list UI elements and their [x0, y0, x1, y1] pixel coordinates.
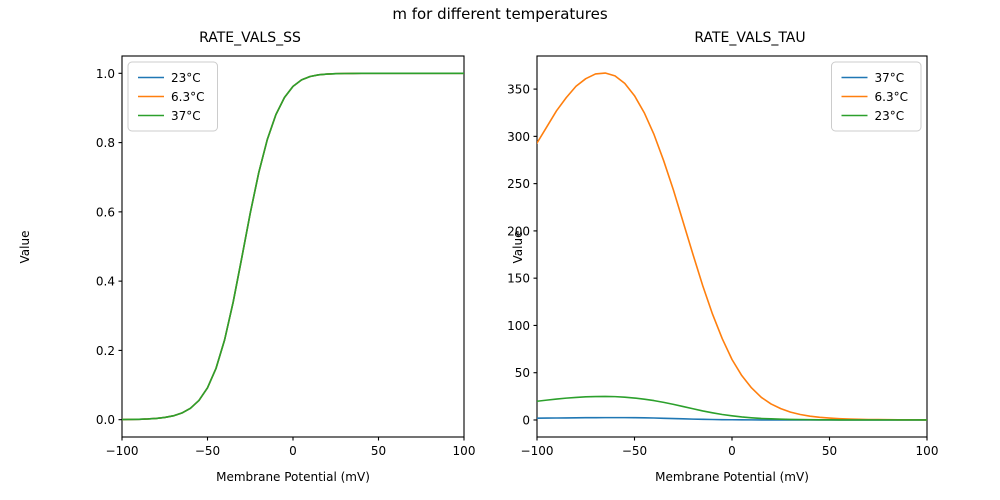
legend-label: 6.3°C — [875, 90, 908, 104]
x-tick-label: 0 — [289, 444, 297, 458]
x-axis-label-right: Membrane Potential (mV) — [537, 470, 927, 484]
x-tick-label: −100 — [521, 444, 554, 458]
y-axis-label-left: Value — [18, 197, 32, 297]
y-tick-label: 50 — [515, 366, 530, 380]
legend-label: 37°C — [171, 109, 201, 123]
x-tick-label: −50 — [622, 444, 647, 458]
y-tick-label: 0.2 — [96, 344, 115, 358]
legend: 23°C6.3°C37°C — [128, 62, 218, 131]
plot-area-right: −100−5005010005010015020025030035037°C6.… — [500, 0, 1000, 500]
legend-label: 37°C — [875, 71, 905, 85]
x-tick-label: 100 — [916, 444, 939, 458]
legend: 37°C6.3°C23°C — [832, 62, 922, 131]
x-tick-label: −100 — [106, 444, 139, 458]
y-tick-label: 0.4 — [96, 275, 115, 289]
x-tick-label: 50 — [371, 444, 386, 458]
x-tick-label: 50 — [822, 444, 837, 458]
y-tick-label: 300 — [507, 130, 530, 144]
legend-label: 6.3°C — [171, 90, 204, 104]
plot-area-left: −100−500501000.00.20.40.60.81.023°C6.3°C… — [0, 0, 500, 500]
y-tick-label: 0.0 — [96, 413, 115, 427]
y-tick-label: 100 — [507, 319, 530, 333]
subplot-rate-vals-tau: RATE_VALS_TAU Value Membrane Potential (… — [500, 0, 1000, 500]
y-tick-label: 250 — [507, 177, 530, 191]
x-tick-label: 0 — [728, 444, 736, 458]
subplot-rate-vals-ss: RATE_VALS_SS Value Membrane Potential (m… — [0, 0, 500, 500]
data-line-23C — [537, 396, 927, 420]
x-tick-label: −50 — [195, 444, 220, 458]
y-tick-label: 1.0 — [96, 67, 115, 81]
subplot-title-right: RATE_VALS_TAU — [500, 30, 1000, 46]
legend-label: 23°C — [875, 109, 905, 123]
y-tick-label: 0 — [522, 413, 530, 427]
x-axis-label-left: Membrane Potential (mV) — [122, 470, 464, 484]
y-tick-label: 0.6 — [96, 205, 115, 219]
y-tick-label: 0.8 — [96, 136, 115, 150]
subplot-title-left: RATE_VALS_SS — [0, 30, 500, 46]
y-axis-label-right: Value — [511, 197, 525, 297]
y-tick-label: 350 — [507, 83, 530, 97]
matplotlib-figure: m for different temperatures RATE_VALS_S… — [0, 0, 1000, 500]
legend-label: 23°C — [171, 71, 201, 85]
x-tick-label: 100 — [453, 444, 476, 458]
